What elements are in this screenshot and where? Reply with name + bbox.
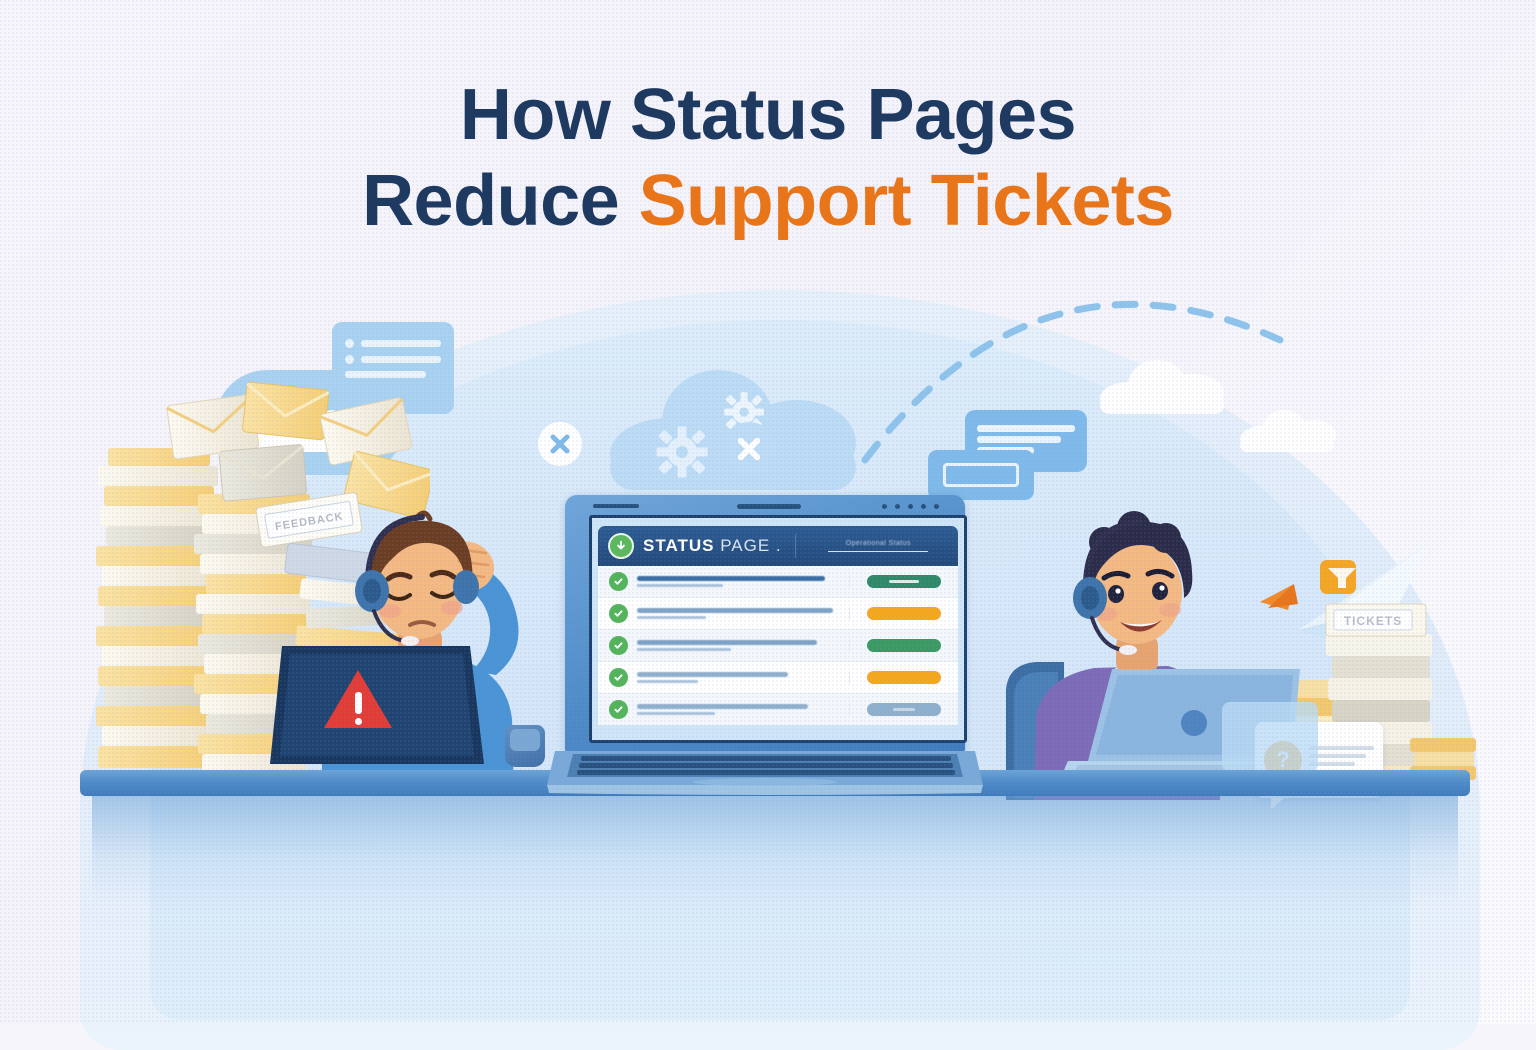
table-row[interactable]: [598, 598, 958, 630]
check-circle-icon: [609, 700, 628, 719]
mouse-device-icon: [505, 725, 545, 767]
scene: FEEDBACK: [0, 250, 1536, 890]
status-page-meta-rule: [828, 551, 928, 553]
status-page-meta: Operational Status: [809, 540, 948, 553]
status-badge: [867, 607, 941, 620]
laptop-speaker-bar: [737, 504, 801, 509]
status-badge: [867, 639, 941, 652]
gear-icon: [646, 416, 718, 488]
header-divider: [795, 534, 796, 558]
status-page-app: STATUS PAGE . Operational Status: [598, 526, 958, 736]
status-badge: [867, 575, 941, 588]
faq-card-backdrop: [1222, 702, 1318, 772]
status-page-rows: [598, 566, 958, 725]
row-text: [637, 672, 849, 683]
row-text: [637, 576, 849, 587]
status-page-header: STATUS PAGE . Operational Status: [598, 526, 958, 566]
laptop-screen: STATUS PAGE . Operational Status: [589, 515, 967, 743]
x-circle-icon-2: [722, 422, 776, 476]
title-line-1: How Status Pages: [0, 72, 1536, 158]
status-page-meta-text: Operational Status: [846, 540, 911, 547]
laptop-base: [547, 751, 983, 797]
status-badge: [867, 671, 941, 684]
x-circle-icon: [538, 422, 582, 466]
row-status-cell: [849, 575, 958, 588]
title-line-2-accent: Support Tickets: [639, 161, 1174, 241]
row-status-cell: [849, 639, 958, 652]
laptop-dots: [882, 504, 939, 509]
row-text: [637, 608, 849, 619]
row-status-cell: [849, 607, 958, 620]
check-circle-icon: [609, 604, 628, 623]
check-circle-icon: [609, 572, 628, 591]
table-row[interactable]: [598, 630, 958, 662]
title-line-2-prefix: Reduce: [362, 161, 639, 241]
status-page-laptop: STATUS PAGE . Operational Status: [555, 495, 975, 795]
check-circle-icon: [609, 668, 628, 687]
status-badge: [867, 703, 941, 716]
laptop-camera-bar: [593, 504, 639, 508]
title-line-2: Reduce Support Tickets: [0, 158, 1536, 244]
agent-laptop-warning: [270, 640, 480, 770]
table-row[interactable]: [598, 694, 958, 725]
ticket-label: TICKETS: [1344, 614, 1402, 628]
table-row[interactable]: [598, 662, 958, 694]
row-status-cell: [849, 671, 958, 684]
check-circle-icon: [609, 636, 628, 655]
download-arrow-icon: [608, 533, 634, 559]
status-page-title-strong: STATUS: [643, 536, 714, 555]
row-text: [637, 704, 849, 715]
dashed-trajectory: [860, 270, 1360, 470]
status-page-title-light: PAGE .: [714, 536, 781, 555]
status-page-title: STATUS PAGE .: [643, 536, 782, 556]
row-status-cell: [849, 703, 958, 716]
row-text: [637, 640, 849, 651]
illustration-canvas: FEEDBACK: [0, 0, 1536, 1024]
table-row[interactable]: [598, 566, 958, 598]
laptop-lid: STATUS PAGE . Operational Status: [565, 495, 965, 753]
desk-reflection: [92, 796, 1458, 906]
page-title: How Status Pages Reduce Support Tickets: [0, 72, 1536, 245]
